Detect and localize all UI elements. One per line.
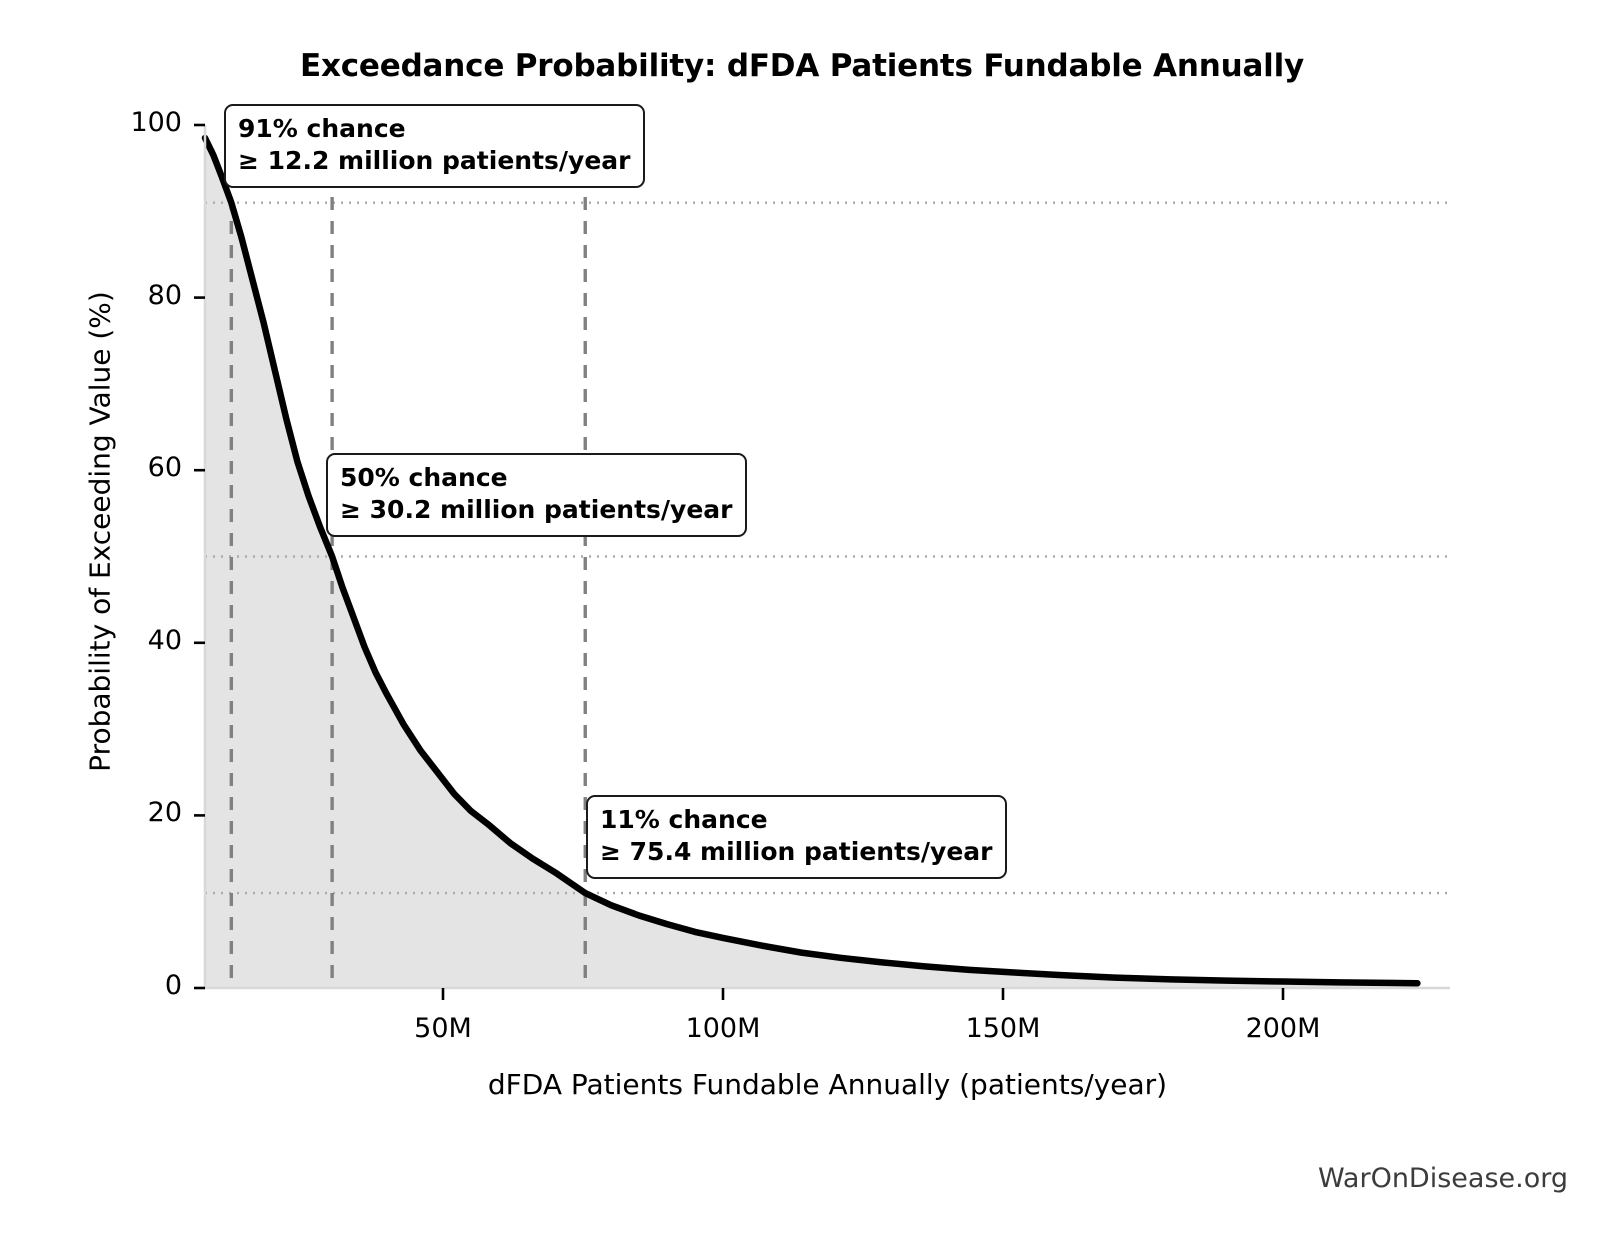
annotation-50-line1: 50% chance: [340, 463, 508, 492]
x-tick-label-100M: 100M: [643, 1013, 803, 1044]
annotation-91-line1: 91% chance: [238, 114, 406, 143]
x-tick-label-150M: 150M: [923, 1013, 1083, 1044]
annotation-50-percent: 50% chance ≥ 30.2 million patients/year: [326, 453, 747, 537]
x-tick-label-200M: 200M: [1203, 1013, 1363, 1044]
annotation-11-percent: 11% chance ≥ 75.4 million patients/year: [586, 795, 1007, 879]
annotation-50-line2: ≥ 30.2 million patients/year: [340, 494, 733, 526]
annotation-91-percent: 91% chance ≥ 12.2 million patients/year: [224, 104, 645, 188]
annotation-91-line2: ≥ 12.2 million patients/year: [238, 145, 631, 177]
y-tick-label-0: 0: [92, 970, 182, 1001]
annotation-11-line2: ≥ 75.4 million patients/year: [600, 836, 993, 868]
exceedance-probability-figure: Exceedance Probability: dFDA Patients Fu…: [0, 0, 1604, 1234]
x-tick-label-50M: 50M: [363, 1013, 523, 1044]
x-axis-label: dFDA Patients Fundable Annually (patient…: [205, 1068, 1450, 1101]
x-axis-tick-marks: [443, 988, 1283, 1000]
y-axis-tick-marks: [194, 125, 205, 988]
y-axis-label: Probability of Exceeding Value (%): [84, 132, 117, 932]
annotation-11-line1: 11% chance: [600, 805, 768, 834]
watermark: WarOnDisease.org: [1318, 1163, 1568, 1194]
